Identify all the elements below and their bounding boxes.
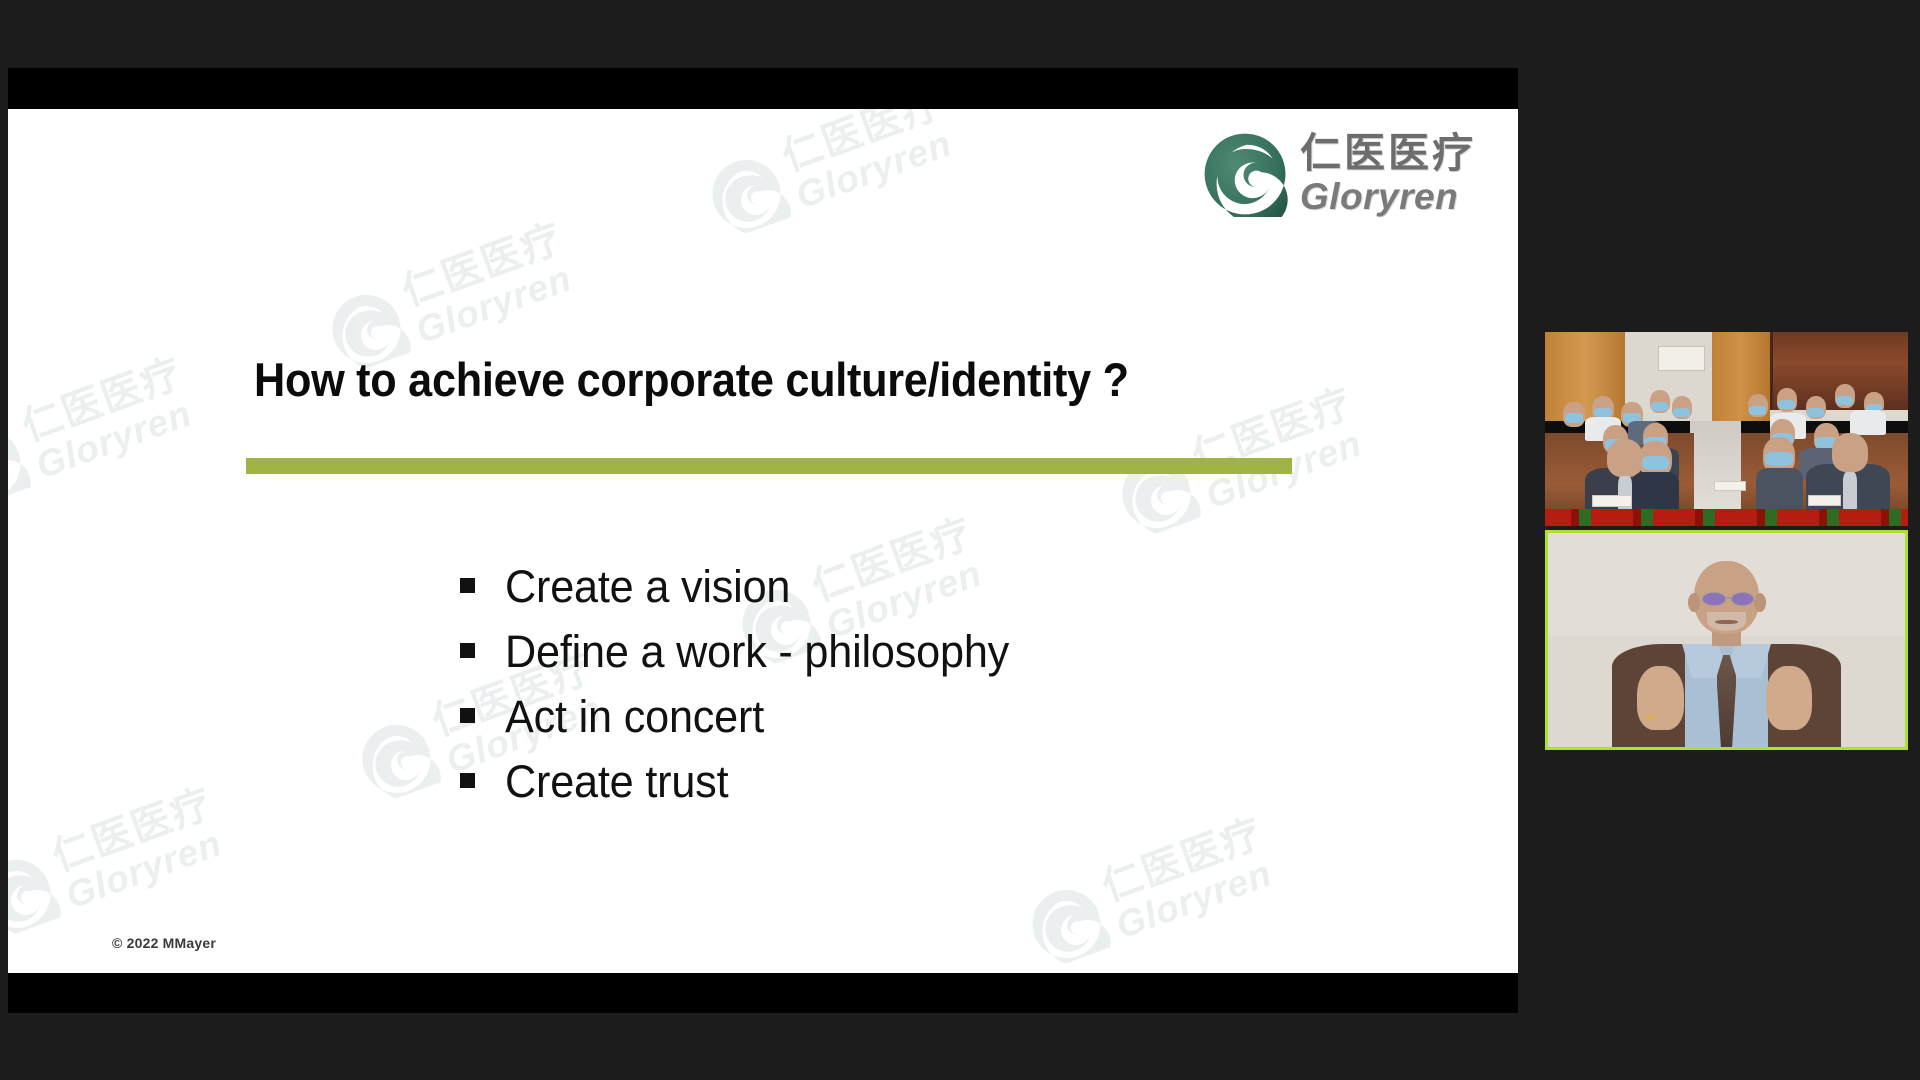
watermark-cn-text: 仁医医疗 [777,109,949,178]
watermark-en-text: Gloryren [1111,852,1282,944]
bullet-text: Define a work - philosophy [505,626,1009,678]
gloryren-swirl-icon [349,711,444,806]
watermark-tile: 仁医医疗 Gloryren [8,353,202,513]
video-tile-active-speaker[interactable] [1545,530,1908,750]
square-bullet-icon [460,773,475,788]
gloryren-swirl-icon [1202,131,1288,217]
speaker-video-frame [1548,533,1905,747]
watermark-en-text: Gloryren [31,392,202,484]
slide-title: How to achieve corporate culture/identit… [254,352,1129,407]
meeting-window: 仁医医疗 Gloryren 仁医医疗 Gloryren [0,0,1920,1080]
gloryren-swirl-icon [8,846,64,941]
square-bullet-icon [460,578,475,593]
watermark-en-text: Gloryren [61,822,232,914]
presentation-slide[interactable]: 仁医医疗 Gloryren 仁医医疗 Gloryren [8,109,1518,973]
gloryren-swirl-icon [1019,876,1114,971]
gloryren-swirl-icon [8,416,34,511]
watermark-cn-text: 仁医医疗 [1097,813,1269,908]
watermark-layer: 仁医医疗 Gloryren 仁医医疗 Gloryren [8,109,1518,973]
list-item: Define a work - philosophy [460,626,1030,691]
participant-thumbnail-strip [1545,332,1908,750]
square-bullet-icon [460,643,475,658]
watermark-en-text: Gloryren [411,257,582,349]
video-tile-audience[interactable] [1545,332,1908,526]
square-bullet-icon [460,708,475,723]
watermark-en-text: Gloryren [791,122,962,214]
bullet-text: Act in concert [505,691,764,743]
bullet-text: Create trust [505,756,728,808]
watermark-tile: 仁医医疗 Gloryren [698,109,962,243]
gloryren-logo: 仁医医疗 Gloryren [1202,131,1476,217]
watermark-tile: 仁医医疗 Gloryren [1018,813,1282,973]
gloryren-swirl-icon [699,146,794,241]
watermark-tile: 仁医医疗 Gloryren [8,783,232,943]
list-item: Act in concert [460,691,1030,756]
watermark-cn-text: 仁医医疗 [47,783,219,878]
list-item: Create trust [460,756,1030,821]
watermark-cn-text: 仁医医疗 [17,353,189,448]
shared-screen-stage[interactable]: 仁医医疗 Gloryren 仁医医疗 Gloryren [8,68,1518,1013]
slide-bullet-list: Create a vision Define a work - philosop… [460,561,1030,821]
slide-copyright: © 2022 MMayer [112,935,216,951]
watermark-cn-text: 仁医医疗 [397,218,569,313]
audience-video-frame [1545,332,1908,526]
title-underline-bar [246,458,1292,474]
list-item: Create a vision [460,561,1030,626]
logo-en-text: Gloryren [1300,178,1476,215]
bullet-text: Create a vision [505,561,790,613]
logo-cn-text: 仁医医疗 [1300,133,1476,174]
